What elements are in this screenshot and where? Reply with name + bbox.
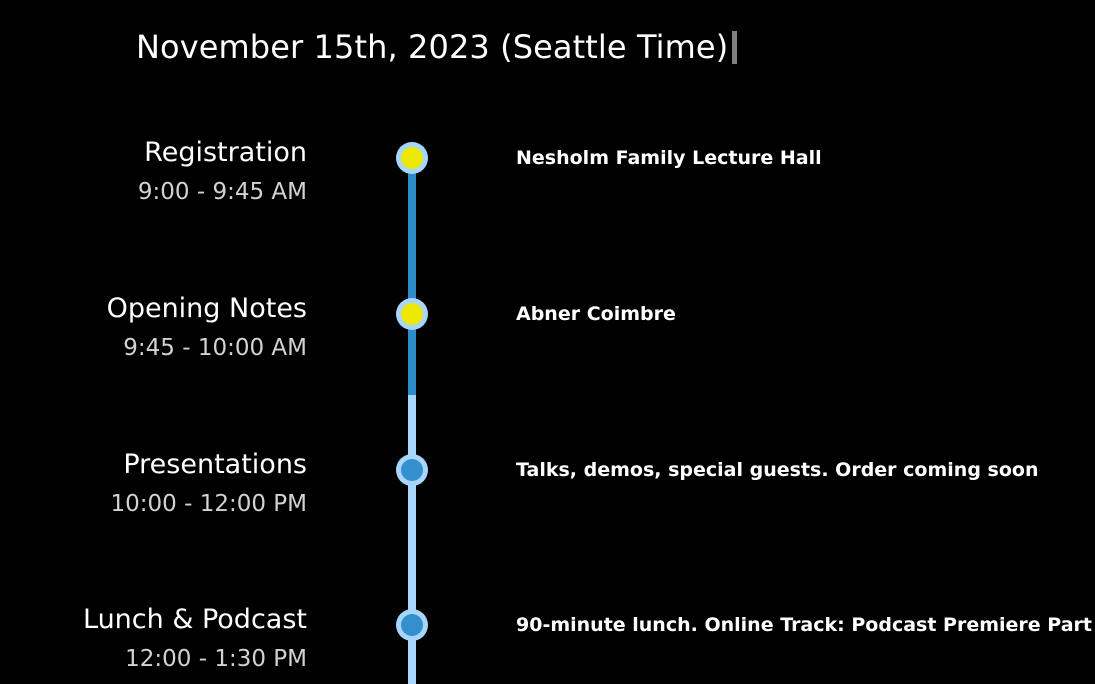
timeline-item-description: Abner Coimbre [516,301,676,327]
timeline-row-left: Opening Notes 9:45 - 10:00 AM [0,292,307,363]
timeline-item-description: Nesholm Family Lecture Hall [516,145,822,171]
text-cursor-caret [732,31,737,64]
timeline-row-left: Presentations 10:00 - 12:00 PM [0,448,307,519]
marker-core-icon [401,614,423,636]
marker-core-icon [401,147,423,169]
timeline-item-name: Registration [0,136,307,170]
timeline-marker-done[interactable] [396,142,428,174]
timeline-item-name: Opening Notes [0,292,307,326]
timeline-item-time: 12:00 - 1:30 PM [0,644,307,674]
timeline-item-time: 9:45 - 10:00 AM [0,333,307,363]
timeline-marker-done[interactable] [396,298,428,330]
timeline-item-name: Lunch & Podcast [0,603,307,637]
timeline-item-description: Talks, demos, special guests. Order comi… [516,457,1038,483]
timeline-marker-upcoming[interactable] [396,454,428,486]
marker-core-icon [401,459,423,481]
page-title: November 15th, 2023 (Seattle Time) [136,22,728,72]
timeline-item-time: 9:00 - 9:45 AM [0,177,307,207]
timeline-item-description: 90-minute lunch. Online Track: Podcast P… [516,612,1095,638]
timeline-row-left: Registration 9:00 - 9:45 AM [0,136,307,207]
marker-core-icon [401,303,423,325]
timeline-rail-completed [408,158,416,395]
timeline-item-name: Presentations [0,448,307,482]
timeline-row-left: Lunch & Podcast 12:00 - 1:30 PM [0,603,307,674]
timeline-marker-upcoming[interactable] [396,609,428,641]
timeline-item-time: 10:00 - 12:00 PM [0,489,307,519]
page-header: November 15th, 2023 (Seattle Time) [136,22,737,72]
schedule-timeline: Registration 9:00 - 9:45 AM Nesholm Fami… [0,104,1095,684]
